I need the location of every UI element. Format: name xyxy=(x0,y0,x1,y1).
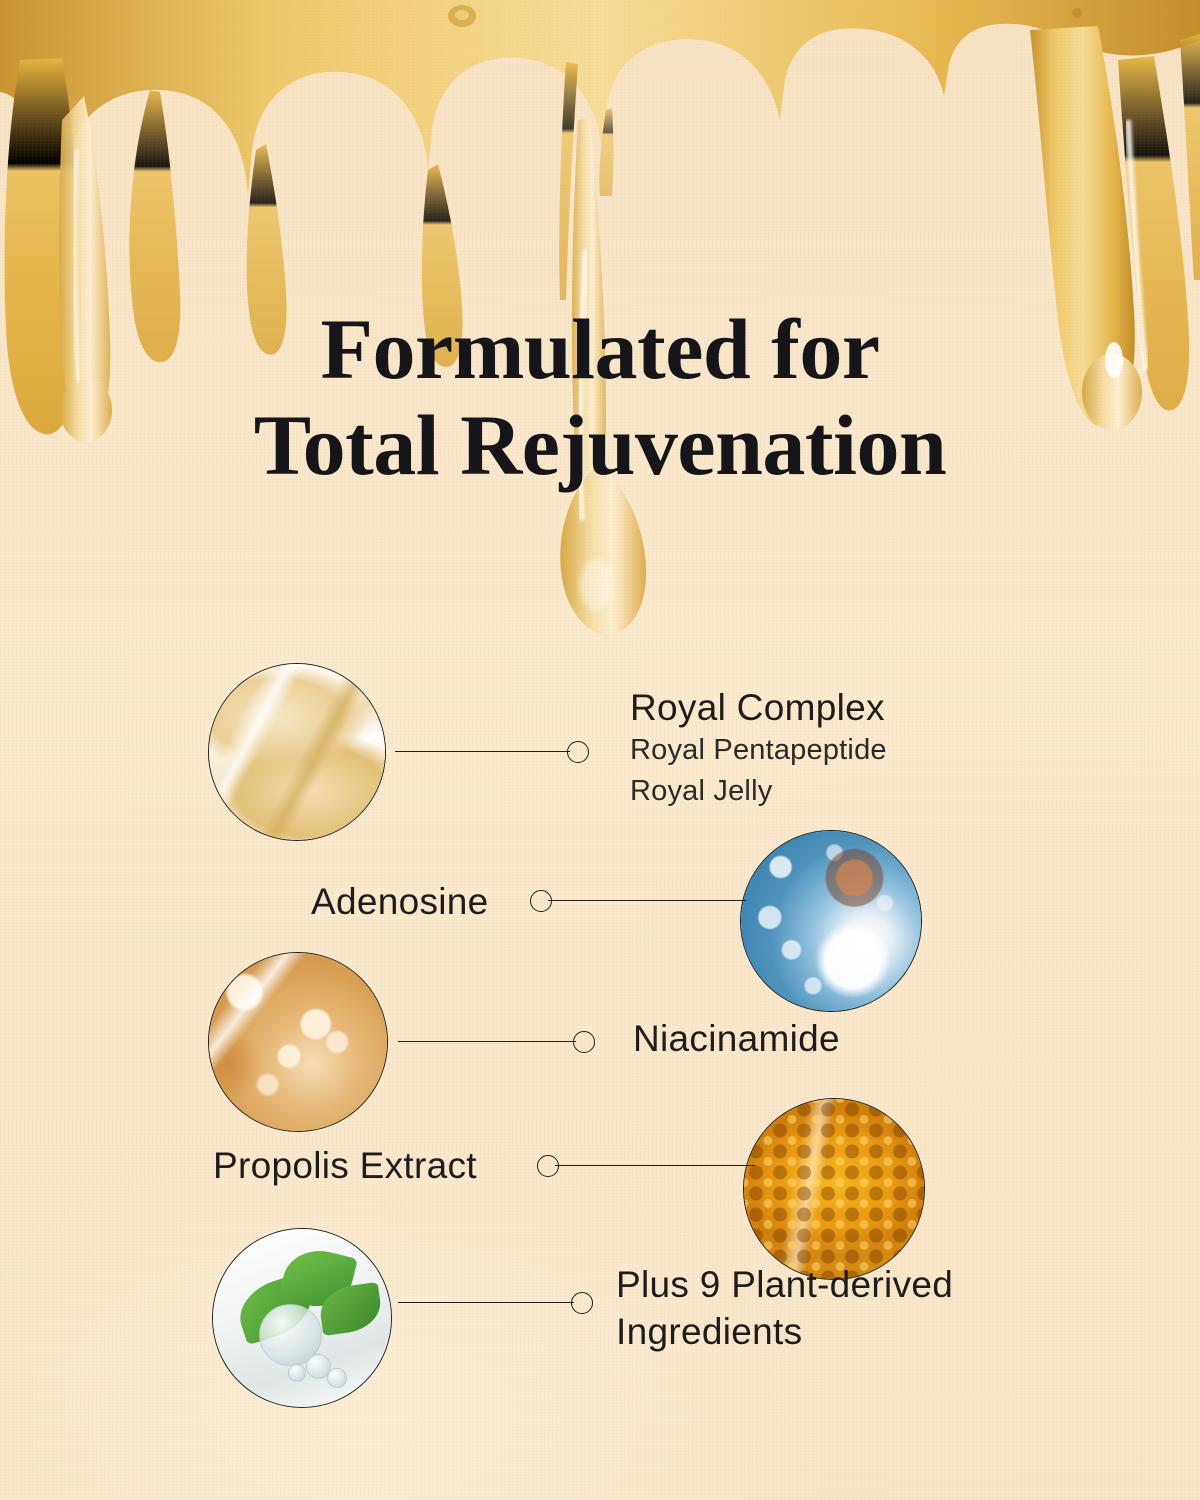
thumb-adenosine xyxy=(740,830,922,1012)
connector-dot xyxy=(573,1031,595,1053)
connector-dot xyxy=(571,1292,593,1314)
connector-line xyxy=(555,1165,755,1166)
ingredient-heading-line-1: Plus 9 Plant-derived xyxy=(616,1262,1016,1309)
connector-propolis xyxy=(537,1145,752,1185)
ingredient-heading: Adenosine xyxy=(311,881,489,924)
ingredient-sub-2: Royal Jelly xyxy=(630,771,887,812)
label-royal-complex: Royal Complex Royal Pentapeptide Royal J… xyxy=(630,687,887,812)
connector-dot xyxy=(530,890,552,912)
ingredient-diagram: Royal Complex Royal Pentapeptide Royal J… xyxy=(0,0,1200,1500)
connector-royal-complex xyxy=(395,731,595,771)
ingredient-heading-line-2: Ingredients xyxy=(616,1309,1016,1356)
connector-line xyxy=(398,1302,574,1303)
ingredient-sub-1: Royal Pentapeptide xyxy=(630,730,887,771)
label-adenosine: Adenosine xyxy=(311,881,489,924)
label-niacinamide: Niacinamide xyxy=(633,1018,840,1061)
blue-bubbles-image xyxy=(741,831,921,1011)
royal-jelly-balm-image xyxy=(209,664,385,840)
connector-niacinamide xyxy=(398,1021,608,1061)
label-plant-derived: Plus 9 Plant-derived Ingredients xyxy=(616,1262,1016,1355)
honeycomb-image xyxy=(744,1099,924,1279)
water-drop-small-3 xyxy=(327,1368,347,1388)
connector-line xyxy=(548,900,746,901)
thumb-plant-derived xyxy=(212,1228,392,1408)
thumb-royal-complex xyxy=(208,663,386,841)
ingredient-heading: Royal Complex xyxy=(630,687,887,730)
connector-adenosine xyxy=(530,880,745,920)
amber-oil-bubbles-image xyxy=(209,953,387,1131)
connector-dot xyxy=(537,1155,559,1177)
green-leaves-image xyxy=(213,1229,391,1407)
marketing-infographic: Formulated for Total Rejuvenation Royal … xyxy=(0,0,1200,1500)
label-propolis-extract: Propolis Extract xyxy=(213,1145,477,1188)
connector-line xyxy=(398,1041,576,1042)
thumb-niacinamide xyxy=(208,952,388,1132)
connector-line xyxy=(395,751,570,752)
thumb-propolis-extract xyxy=(743,1098,925,1280)
ingredient-heading: Niacinamide xyxy=(633,1018,840,1061)
connector-plant-derived xyxy=(398,1282,608,1322)
ingredient-heading: Propolis Extract xyxy=(213,1145,477,1188)
water-drop-small-2 xyxy=(288,1364,306,1382)
honeycomb-gloss xyxy=(744,1099,924,1279)
connector-dot xyxy=(567,741,589,763)
